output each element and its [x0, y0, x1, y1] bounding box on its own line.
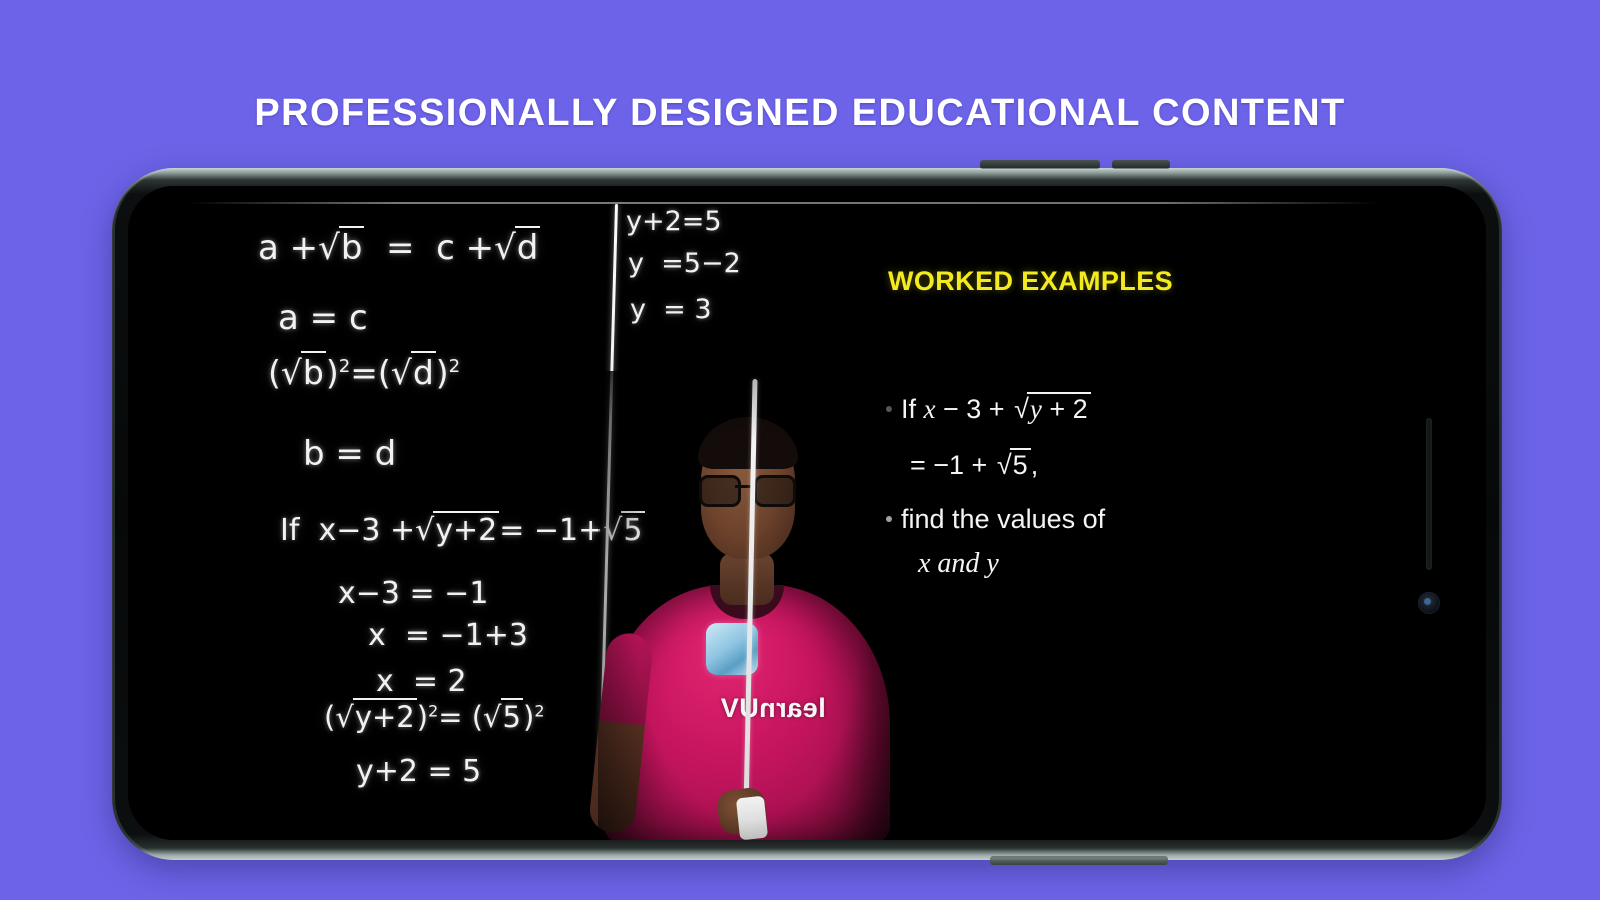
handwritten-equation-3: (√b)2=(√d)2 [268, 351, 460, 392]
worked-examples-title: WORKED EXAMPLES [888, 266, 1173, 297]
handwritten-equation-10: y+2 = 5 [356, 754, 481, 789]
handwritten-center-2: y =5−2 [628, 248, 741, 279]
handwritten-equation-2: a = c [278, 298, 368, 338]
handwritten-equation-9: (√y+2)2= (√5)2 [324, 698, 544, 734]
presenter-hair [698, 417, 798, 469]
power-button[interactable] [990, 856, 1168, 865]
example-bullet-3: find the values of [886, 504, 1105, 535]
handwritten-center-1: y+2=5 [626, 206, 722, 237]
blackboard: a +√b = c +√d a = c (√b)2=(√d)2 b = d If… [128, 186, 1486, 840]
handwritten-equation-1: a +√b = c +√d [258, 226, 540, 268]
pointer-grip [736, 796, 768, 840]
example-bullet-2: = −1 + √5, [910, 448, 1038, 481]
handwritten-equation-4: b = d [303, 434, 396, 474]
handwritten-center-3: y = 3 [630, 294, 712, 325]
volume-up-button[interactable] [980, 160, 1100, 169]
page-title: PROFESSIONALLY DESIGNED EDUCATIONAL CONT… [0, 92, 1600, 135]
example-bullet-1: If x − 3 + √y + 2 [886, 392, 1091, 425]
promo-slide: PROFESSIONALLY DESIGNED EDUCATIONAL CONT… [0, 0, 1600, 900]
example-bullet-4: x and y [918, 548, 999, 580]
earpiece-speaker [1426, 418, 1432, 570]
shirt-logo: learnUV [698, 693, 848, 724]
phone-screen[interactable]: a +√b = c +√d a = c (√b)2=(√d)2 b = d If… [128, 186, 1486, 840]
screen-top-highlight [188, 202, 1378, 204]
handwritten-equation-6: x−3 = −1 [338, 576, 488, 611]
volume-down-button[interactable] [1112, 160, 1170, 169]
front-camera-icon [1418, 592, 1440, 614]
eyeglasses-icon [699, 475, 741, 507]
eyeglasses-icon [754, 475, 796, 507]
presenter: learnUV [598, 371, 898, 840]
handwritten-equation-5: If x−3 +√y+2= −1+√5 [280, 511, 645, 548]
handwritten-equation-7: x = −1+3 [368, 618, 528, 653]
handwritten-equation-8: x = 2 [376, 664, 467, 699]
